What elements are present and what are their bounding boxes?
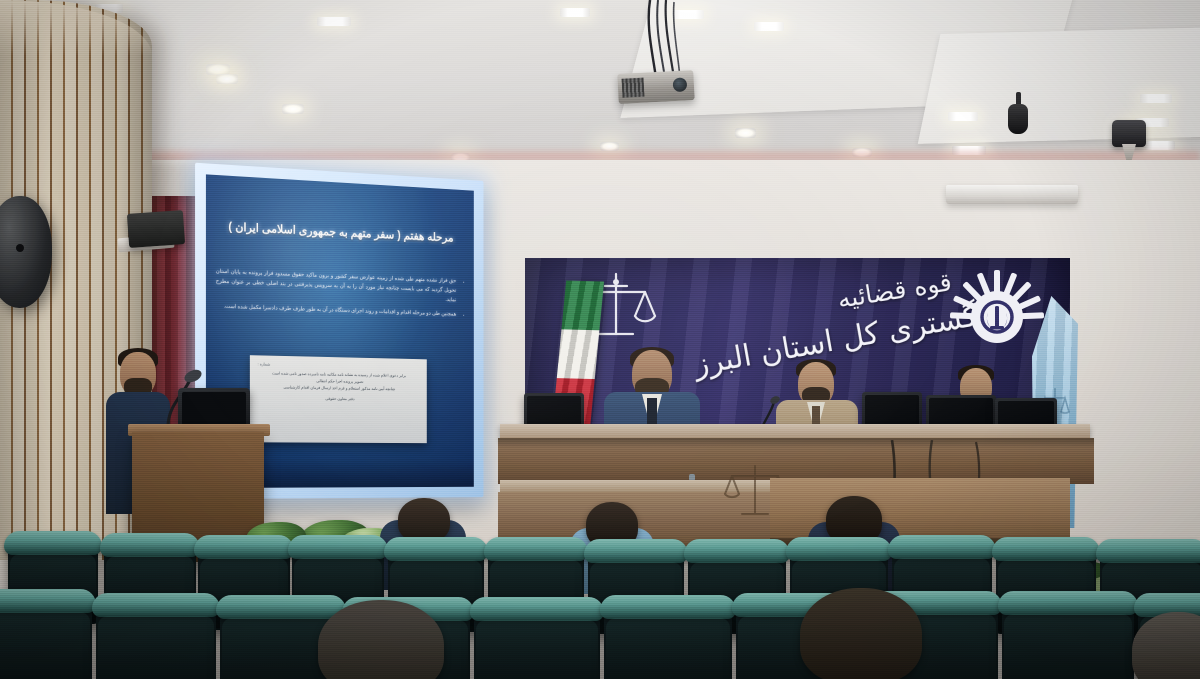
auditorium-seat[interactable] xyxy=(0,596,92,679)
document-header: شماره : xyxy=(258,361,420,369)
wall-speaker-icon xyxy=(1112,120,1146,160)
camera-body xyxy=(1008,104,1028,134)
auditorium-seat[interactable] xyxy=(604,602,732,679)
wall-mounted-camera-icon xyxy=(127,210,185,248)
speaker-port xyxy=(16,244,24,252)
slide-document-image: شماره : برابر دعوی اعلام شده از رسیده به… xyxy=(250,355,427,443)
recessed-light-icon xyxy=(216,74,238,84)
slide-title: مرحله هفتم ( سفر متهم به جمهوری اسلامی ا… xyxy=(214,219,467,245)
auditorium-seat[interactable] xyxy=(474,604,600,679)
recessed-light-icon xyxy=(1140,94,1172,103)
judiciary-sunburst-emblem-icon xyxy=(948,268,1046,366)
audience-seating xyxy=(0,470,1200,679)
projector-lens-icon xyxy=(673,77,688,92)
audience-member-foreground-left-head xyxy=(318,600,444,679)
projector-vent xyxy=(622,78,645,98)
audience-member-foreground-right-head xyxy=(800,588,922,679)
recessed-light-icon xyxy=(560,8,590,17)
recessed-light-icon xyxy=(754,22,784,31)
speaker-bracket xyxy=(1122,144,1136,160)
recessed-light-icon xyxy=(317,17,351,26)
auditorium-seat[interactable] xyxy=(1002,598,1134,679)
ceiling-projector xyxy=(617,70,694,104)
slide-bullet: همچنین طی دو مرحله اقدام و اقدامات و رون… xyxy=(216,302,456,320)
courtroom-scene: مرحله هفتم ( سفر متهم به جمهوری اسلامی ا… xyxy=(0,0,1200,679)
cctv-camera-icon xyxy=(1008,92,1028,134)
auditorium-seat[interactable] xyxy=(96,600,216,679)
air-conditioner-unit xyxy=(946,185,1078,204)
slide-bullet: حق فراز نشده متهم طی شده از زمینه عوارض … xyxy=(216,267,456,305)
judge-collar xyxy=(647,398,657,424)
recessed-light-icon xyxy=(282,104,304,114)
recessed-light-icon xyxy=(735,128,756,138)
recessed-light-icon xyxy=(948,112,978,121)
speaker-enclosure xyxy=(1112,120,1146,147)
slide-bullet-list: حق فراز نشده متهم طی شده از زمینه عوارض … xyxy=(216,267,465,325)
document-signature: دفتر معاون حقوقی xyxy=(258,395,420,402)
